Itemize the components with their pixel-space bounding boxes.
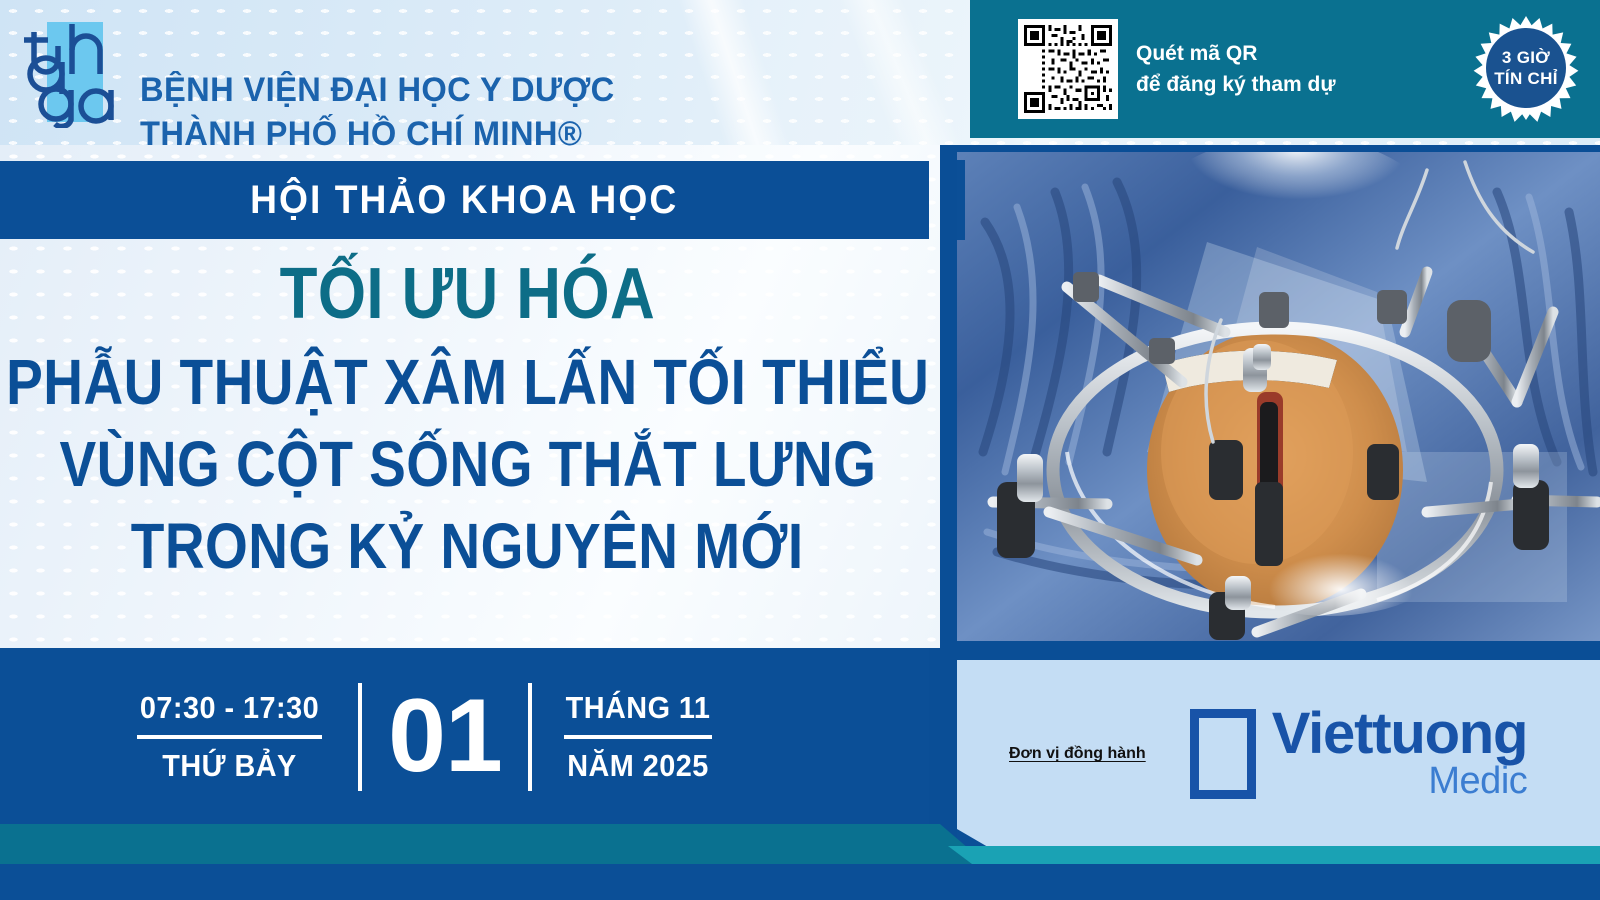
- badge-line2: TÍN CHỈ: [1494, 68, 1557, 89]
- title-line-2: PHẪU THUẬT XÂM LẤN TỐI THIỂU: [6, 350, 929, 414]
- sponsor-panel: Đơn vị đồng hành Viettuong Medic: [957, 660, 1600, 865]
- title-line-3: VÙNG CỘT SỐNG THẮT LƯNG: [59, 432, 876, 496]
- sponsor-brand-sub: Medic: [1272, 762, 1528, 800]
- divider: [358, 683, 362, 791]
- surgery-photo-frame: [957, 152, 1600, 641]
- qr-text-line1: Quét mã QR: [1136, 38, 1336, 70]
- divider: [137, 735, 322, 739]
- logo-square-icon: [1190, 709, 1256, 799]
- sponsor-label: Đơn vị đồng hành: [1009, 745, 1146, 763]
- viettuong-medic-logo: Viettuong Medic: [1190, 708, 1528, 800]
- surgical-retractor-photo: [957, 152, 1600, 641]
- event-poster: BỆNH VIỆN ĐẠI HỌC Y DƯỢC THÀNH PHỐ HỒ CH…: [0, 0, 1600, 900]
- event-time: 07:30 - 17:30: [134, 690, 325, 726]
- event-weekday: THỨ BẢY: [134, 748, 325, 784]
- badge-line1: 3 GIỜ: [1502, 47, 1550, 68]
- logo-letters-icon: [14, 16, 126, 128]
- event-year: NĂM 2025: [563, 748, 712, 784]
- tgh-monogram-logo: [14, 16, 126, 128]
- photo-accent-tab: [957, 160, 965, 240]
- credit-hours-text: 3 GIỜ TÍN CHỈ: [1472, 14, 1580, 122]
- divider: [564, 735, 712, 739]
- event-datetime-bar: 07:30 - 17:30 THỨ BẢY 01 THÁNG 11 NĂM 20…: [0, 648, 929, 825]
- event-month: THÁNG 11: [563, 690, 712, 726]
- event-title: TỐI ƯU HÓA PHẪU THUẬT XÂM LẤN TỐI THIỂU …: [0, 248, 935, 638]
- qr-text-line2: để đăng ký tham dự: [1136, 69, 1336, 101]
- sponsor-brand: Viettuong: [1272, 708, 1528, 760]
- title-line-4: TRONG KỶ NGUYÊN MỚI: [131, 514, 804, 578]
- divider: [528, 683, 532, 791]
- qr-code-icon[interactable]: [1018, 19, 1118, 119]
- event-month-year-block: THÁNG 11 NĂM 2025: [558, 690, 718, 784]
- bottom-blue-band: [0, 864, 1600, 900]
- hospital-name-line2: THÀNH PHỐ HỒ CHÍ MINH®: [140, 112, 615, 156]
- seminar-kicker: HỘI THẢO KHOA HỌC: [250, 178, 678, 223]
- event-time-block: 07:30 - 17:30 THỨ BẢY: [127, 690, 332, 784]
- credit-hours-badge: 3 GIỜ TÍN CHỈ: [1472, 14, 1580, 122]
- event-day: 01: [388, 689, 502, 785]
- seminar-kicker-band: HỘI THẢO KHOA HỌC: [0, 161, 929, 239]
- teal-accent-stripe: [0, 842, 1600, 864]
- qr-instruction-text: Quét mã QR để đăng ký tham dự: [1136, 38, 1336, 101]
- hospital-name-line1: BỆNH VIỆN ĐẠI HỌC Y DƯỢC: [140, 71, 615, 109]
- title-line-1: TỐI ƯU HÓA: [280, 258, 656, 330]
